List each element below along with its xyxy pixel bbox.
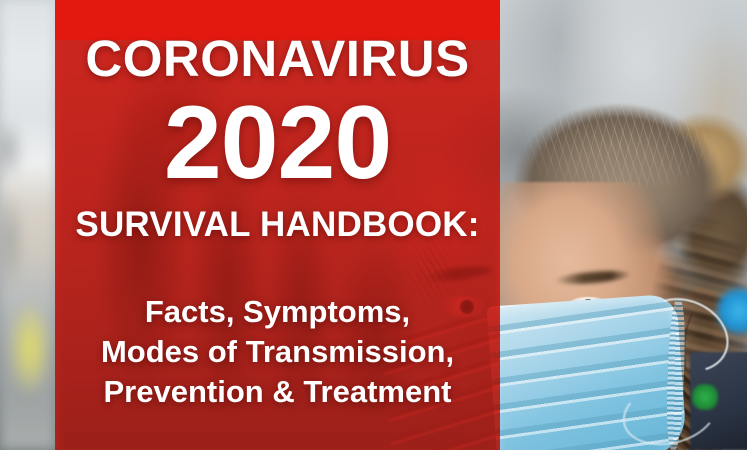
left-blurred-strip (0, 0, 56, 450)
subtitle-list: Facts, Symptoms, Modes of Transmission, … (55, 292, 500, 412)
poster-text-block: CORONAVIRUS 2020 SURVIVAL HANDBOOK: Fact… (55, 0, 500, 450)
headline-year: 2020 (55, 91, 500, 195)
subtitle-line-2: Modes of Transmission, (55, 332, 500, 372)
hair-wisps (500, 66, 747, 186)
subtitle-line-3: Prevention & Treatment (55, 372, 500, 412)
headline-coronavirus: CORONAVIRUS (55, 33, 500, 84)
subhead-survival-handbook: SURVIVAL HANDBOOK: (55, 207, 500, 242)
subtitle-line-1: Facts, Symptoms, (55, 292, 500, 332)
coronavirus-2020-survival-handbook-poster: CORONAVIRUS 2020 SURVIVAL HANDBOOK: Fact… (0, 0, 747, 450)
